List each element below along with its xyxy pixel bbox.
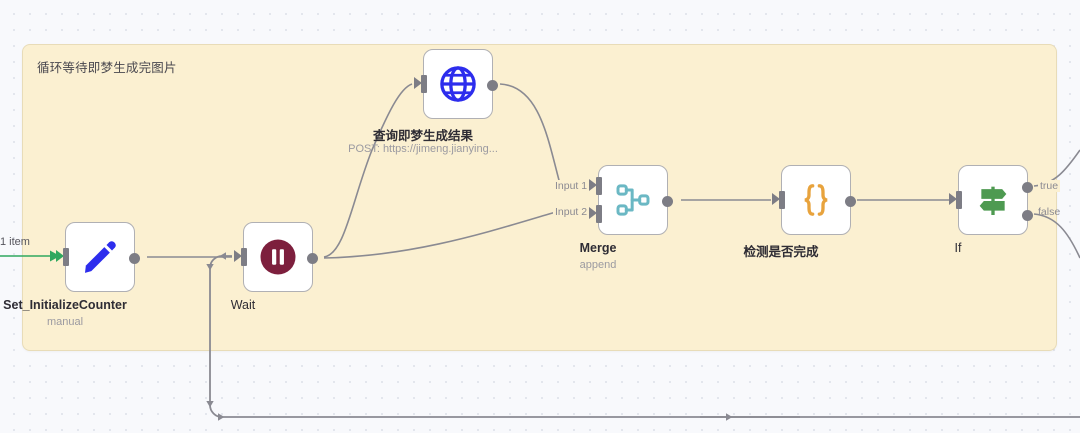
output-port[interactable] [662,196,673,207]
sticky-note-title: 循环等待即梦生成完图片 [37,57,177,76]
input-port[interactable] [956,191,962,209]
output-port[interactable] [487,80,498,91]
if-output-false-label: false [1036,206,1062,218]
node-subtitle: manual [47,316,83,328]
node-box[interactable] [781,165,851,235]
node-box[interactable] [243,222,313,292]
output-port-false[interactable] [1022,210,1033,221]
pencil-icon [80,237,120,277]
input-port[interactable] [779,191,785,209]
node-title: 查询即梦生成结果 [373,125,473,144]
workflow-canvas[interactable]: 循环等待即梦生成完图片 [0,0,1080,433]
pause-icon [257,236,299,278]
node-box[interactable] [958,165,1028,235]
output-port[interactable] [845,196,856,207]
sticky-note[interactable]: 循环等待即梦生成完图片 [22,44,1057,351]
output-port[interactable] [307,253,318,264]
node-title: 检测是否完成 [743,241,818,260]
globe-icon [437,63,479,105]
if-output-true-label: true [1038,180,1060,192]
input-port-2[interactable] [596,205,602,223]
merge-icon [613,180,653,220]
node-box[interactable] [423,49,493,119]
incoming-items-label: 1 item [0,236,30,248]
output-port-true[interactable] [1022,182,1033,193]
node-box[interactable] [598,165,668,235]
node-subtitle: append [580,259,617,271]
node-subtitle: POST: https://jimeng.jianying... [348,143,498,155]
input-port[interactable] [241,248,247,266]
signpost-icon [973,180,1013,220]
input-port-1[interactable] [596,177,602,195]
node-title: Wait [231,298,256,312]
node-title: If [955,241,962,255]
merge-input-2-label: Input 2 [553,206,589,218]
merge-input-1-label: Input 1 [553,180,589,192]
node-title: Merge [580,241,617,255]
node-title: Set_InitializeCounter [3,298,127,312]
input-port[interactable] [63,248,69,266]
input-port[interactable] [421,75,427,93]
node-box[interactable] [65,222,135,292]
curly-braces-icon [796,180,836,220]
output-port[interactable] [129,253,140,264]
